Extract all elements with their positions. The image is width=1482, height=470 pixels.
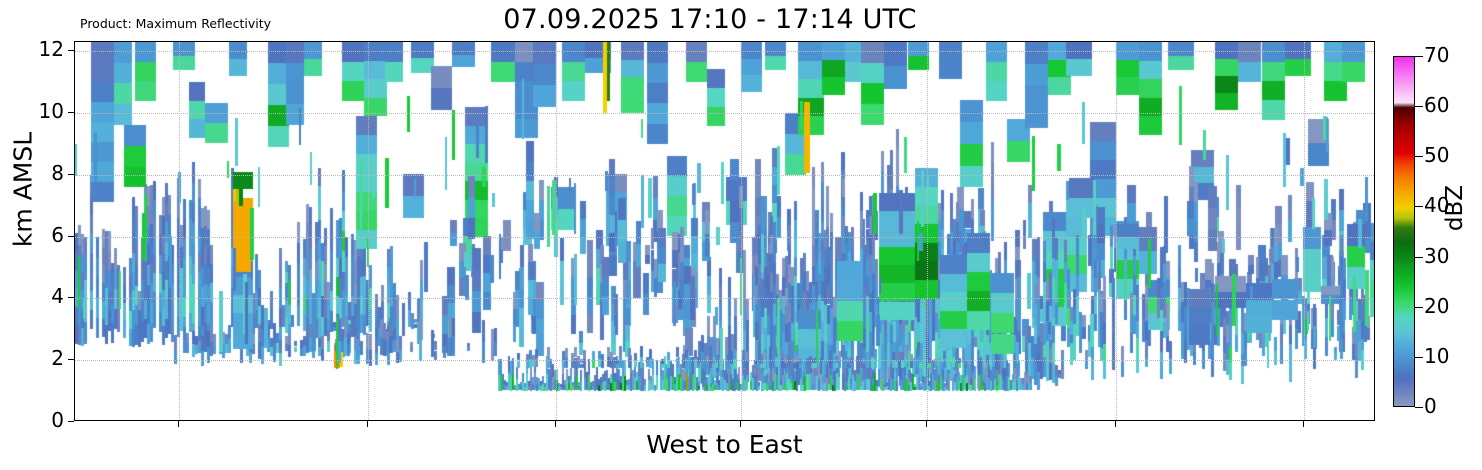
colorbar-gradient	[1394, 57, 1415, 407]
product-label: Product: Maximum Reflectivity	[80, 16, 271, 31]
colorbar-tick-label: 10	[1424, 346, 1449, 366]
colorbar	[1393, 56, 1415, 407]
x-tick-mark	[1115, 421, 1116, 427]
x-tick-mark	[926, 421, 927, 427]
colorbar-tick-mark	[1415, 106, 1423, 107]
gridline-horizontal	[75, 298, 1374, 299]
colorbar-tick-label: 0	[1424, 396, 1437, 416]
colorbar-tick-label: 60	[1424, 95, 1449, 115]
colorbar-tick-mark	[1415, 307, 1423, 308]
y-tick-label: 10	[10, 101, 64, 121]
plot-area	[74, 41, 1375, 421]
x-tick-mark	[740, 421, 741, 427]
gridline-horizontal	[75, 175, 1374, 176]
gridline-vertical	[741, 42, 742, 420]
gridline-vertical	[556, 42, 557, 420]
y-tick-mark	[68, 421, 74, 422]
gridline-vertical	[1304, 42, 1305, 420]
x-tick-mark	[1303, 421, 1304, 427]
gridline-vertical	[368, 42, 369, 420]
colorbar-tick-mark	[1415, 257, 1423, 258]
colorbar-tick-mark	[1415, 56, 1423, 57]
colorbar-tick-mark	[1415, 407, 1423, 408]
colorbar-tick-label: 20	[1424, 296, 1449, 316]
gridline-vertical	[927, 42, 928, 420]
colorbar-tick-mark	[1415, 357, 1423, 358]
y-tick-label: 2	[10, 348, 64, 368]
gridline-vertical	[179, 42, 180, 420]
x-tick-mark	[178, 421, 179, 427]
gridline-vertical	[1116, 42, 1117, 420]
gridline-horizontal	[75, 113, 1374, 114]
x-tick-mark	[367, 421, 368, 427]
x-tick-mark	[555, 421, 556, 427]
y-tick-label: 8	[10, 163, 64, 183]
y-tick-mark	[68, 297, 74, 298]
x-axis-label: West to East	[74, 430, 1375, 459]
y-tick-mark	[68, 359, 74, 360]
radar-curtain-figure: 07.09.2025 17:10 - 17:14 UTC Product: Ma…	[0, 0, 1482, 470]
y-tick-mark	[68, 174, 74, 175]
y-tick-label: 6	[10, 225, 64, 245]
y-tick-label: 4	[10, 286, 64, 306]
colorbar-tick-label: 70	[1424, 45, 1449, 65]
colorbar-tick-mark	[1415, 206, 1423, 207]
colorbar-label: dBZ	[1442, 153, 1468, 263]
y-tick-label: 0	[10, 410, 64, 430]
gridline-horizontal	[75, 51, 1374, 52]
reflectivity-heatmap	[75, 42, 1375, 421]
gridline-horizontal	[75, 237, 1374, 238]
gridline-horizontal	[75, 360, 1374, 361]
y-tick-mark	[68, 112, 74, 113]
y-tick-mark	[68, 50, 74, 51]
colorbar-tick-mark	[1415, 156, 1423, 157]
y-tick-label: 12	[10, 39, 64, 59]
y-tick-mark	[68, 236, 74, 237]
